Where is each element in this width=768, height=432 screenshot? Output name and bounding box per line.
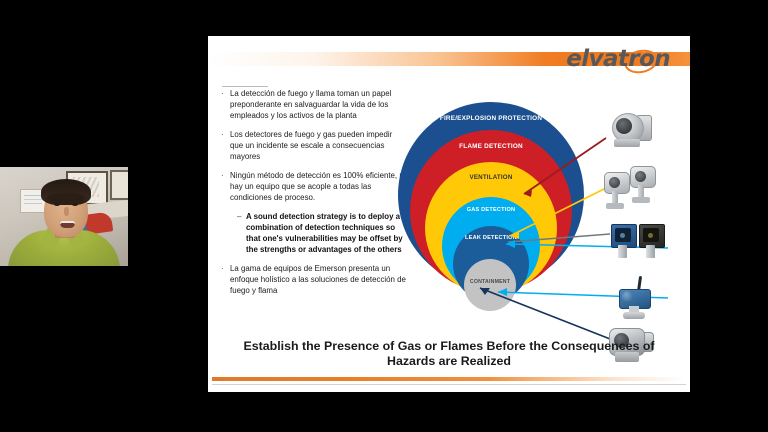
detector-lens [616,118,632,134]
flame-detector-pair-device [604,166,662,212]
bullet-text: La gama de equipos de Emerson presenta u… [230,263,407,296]
list-item: · La detección de fuego y llama toman un… [221,88,407,121]
header-divider [222,86,268,87]
presenter-hair [41,179,91,205]
list-item: · Los detectores de fuego y gas pueden i… [221,129,407,162]
bullet-marker: · [221,170,230,203]
bullet-text: La detección de fuego y llama toman un p… [230,88,407,121]
elvatron-logo: elvatron [566,46,670,72]
bullet-text: Los detectores de fuego y gas pueden imp… [230,129,407,162]
footer-divider [212,384,686,385]
footer-orange-band [212,377,686,381]
detector-lens [635,171,646,182]
flame-detector-device [606,109,654,151]
logo-text: elvatron [566,46,670,72]
bullet-marker: – [237,211,246,255]
nose [64,207,69,216]
bullet-text: Ningún método de detección es 100% efici… [230,170,407,203]
slide-header: elvatron [208,36,690,76]
detector-stem [618,245,627,258]
bullet-marker: · [221,129,230,162]
list-item-sub: – A sound detection strategy is to deplo… [237,211,407,255]
bullet-list: · La detección de fuego y llama toman un… [221,88,407,304]
detector-mount [606,203,624,209]
gas-detector-unit [611,224,635,264]
shared-slide: elvatron · La detección de fuego y llama… [208,36,690,392]
concentric-rings-diagram: FIRE/EXPLOSION PROTECTION FLAME DETECTIO… [398,102,588,352]
detector-sensor [648,233,653,238]
eye-right [72,203,78,206]
detector-sensor [620,233,625,238]
ring-containment: CONTAINMENT [464,259,516,311]
bullet-text: A sound detection strategy is to deploy … [246,211,407,255]
eyebrow-right [71,199,80,201]
bullet-marker: · [221,88,230,121]
detector-lens [609,177,620,188]
transmitter-mount [623,312,645,319]
bullet-marker: · [221,263,230,296]
gas-detector-pair-device [611,224,665,266]
detector-unit [604,172,628,212]
presenter-webcam-panel[interactable] [0,167,128,266]
eye-left [54,203,60,206]
detector-mount [614,139,640,147]
screen-share-stage: elvatron · La detección de fuego y llama… [0,0,768,432]
gas-detector-unit [639,224,663,264]
slide-title: Establish the Presence of Gas or Flames … [230,339,668,369]
detector-unit [630,166,654,206]
list-item: · La gama de equipos de Emerson presenta… [221,263,407,296]
mouth [60,221,75,228]
wireless-transmitter-device [613,276,659,322]
ring-label: CONTAINMENT [470,279,510,311]
list-item: · Ningún método de detección es 100% efi… [221,170,407,203]
detector-mount [632,197,650,203]
detector-stem [646,245,655,258]
framed-picture-secondary [110,170,128,200]
eyebrow-left [52,199,61,201]
transmitter-cap [622,291,633,302]
